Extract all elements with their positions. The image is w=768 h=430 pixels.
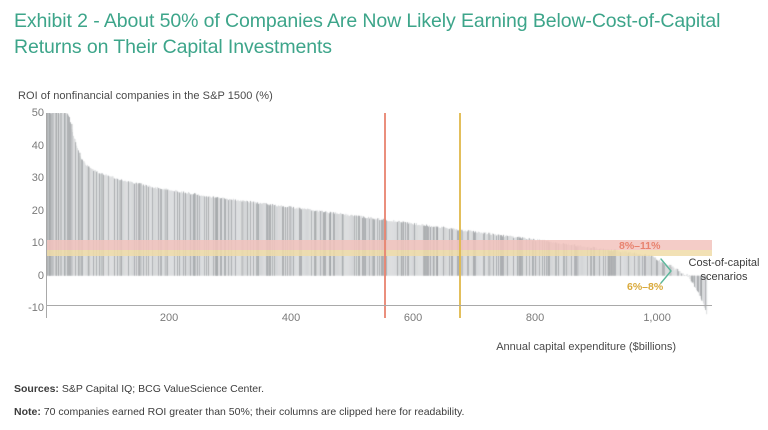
x-tick-label: 400 — [261, 312, 321, 324]
x-axis-caption: Annual capital expenditure ($billions) — [496, 341, 676, 353]
chevron-right-icon — [658, 256, 674, 286]
x-axis-line — [46, 305, 712, 306]
x-tick-label: 200 — [139, 312, 199, 324]
footnote-sources-text: S&P Capital IQ; BCG ValueScience Center. — [59, 383, 264, 395]
marker-yellow-crossing — [459, 113, 461, 318]
footnote-note-text: 70 companies earned ROI greater than 50%… — [41, 406, 465, 418]
y-tick-label: 20 — [18, 211, 44, 223]
y-tick-label: 30 — [18, 178, 44, 190]
x-tick-label: 800 — [505, 312, 565, 324]
y-tick-label: 10 — [18, 243, 44, 255]
page-title: Exhibit 2 - About 50% of Companies Are N… — [14, 8, 752, 60]
exhibit-chart: Exhibit 2 - About 50% of Companies Are N… — [0, 0, 768, 430]
plot-area — [47, 113, 712, 318]
footnote-note: Note: 70 companies earned ROI greater th… — [14, 406, 464, 418]
scenario-annotation-label: Cost-of-capital scenarios — [678, 256, 768, 284]
footnote-note-label: Note: — [14, 406, 41, 418]
x-tick-label: 1,000 — [627, 312, 687, 324]
annotation-high-band: 8%–11% — [619, 240, 660, 252]
y-tick-label: 40 — [18, 146, 44, 158]
footnote-sources: Sources: S&P Capital IQ; BCG ValueScienc… — [14, 383, 264, 395]
y-tick-label: -10 — [18, 308, 44, 320]
footnote-sources-label: Sources: — [14, 383, 59, 395]
x-tick-label: 600 — [383, 312, 443, 324]
y-tick-label: 50 — [18, 113, 44, 125]
y-tick-label: 0 — [18, 276, 44, 288]
plot-clip — [47, 113, 712, 318]
y-axis-line — [46, 113, 47, 318]
bar-series-canvas — [47, 113, 712, 318]
marker-red-crossing — [384, 113, 386, 318]
y-axis-caption: ROI of nonfinancial companies in the S&P… — [18, 90, 273, 102]
